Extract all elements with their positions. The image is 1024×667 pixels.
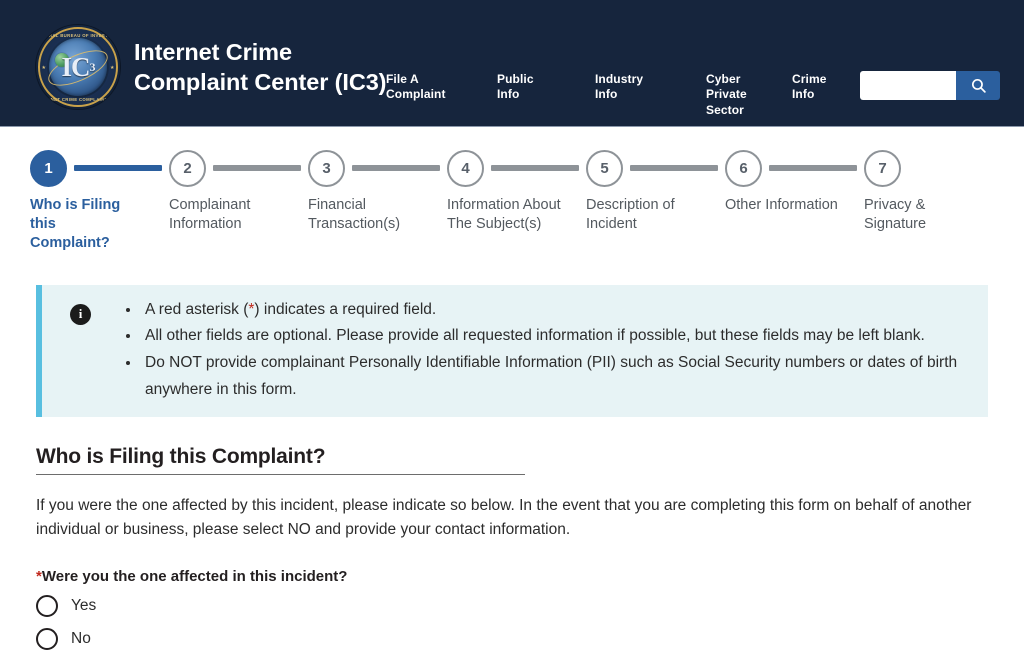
step-6-row: 6 (725, 149, 864, 187)
step-5-description-of-incident[interactable]: 5 Description of Incident (586, 149, 725, 234)
step-3-connector (352, 165, 440, 171)
step-4-connector (491, 165, 579, 171)
radio-circle-yes-icon[interactable] (36, 595, 58, 617)
instructions-list: A red asterisk (*) indicates a required … (123, 297, 978, 404)
step-5-row: 5 (586, 149, 725, 187)
intro-paragraph: If you were the one affected by this inc… (36, 494, 988, 541)
main-navigation: File A Complaint Public Info Industry In… (386, 72, 868, 118)
instruction-item-no-pii: Do NOT provide complainant Personally Id… (141, 350, 978, 403)
step-4-circle[interactable]: 4 (447, 150, 484, 187)
step-6-other-information[interactable]: 6 Other Information (725, 149, 864, 215)
progress-stepper: 1 Who is Filing this Complaint? 2 Compla… (0, 149, 1024, 253)
step-4-information-about-subjects[interactable]: 4 Information About The Subject(s) (447, 149, 586, 234)
site-title-line-1: Internet Crime (134, 37, 386, 67)
step-6-label[interactable]: Other Information (725, 196, 843, 215)
step-1-connector (74, 165, 162, 171)
main-content: Who is Filing this Complaint? If you wer… (0, 445, 1024, 650)
info-icon: i (70, 304, 91, 325)
instruction-1-pre: A red asterisk ( (145, 301, 248, 318)
step-1-who-is-filing[interactable]: 1 Who is Filing this Complaint? (30, 149, 169, 253)
nav-item-crime-info[interactable]: Crime Info (792, 72, 868, 103)
radio-circle-no-icon[interactable] (36, 628, 58, 650)
nav-item-industry-info[interactable]: Industry Info (595, 72, 706, 103)
step-3-label[interactable]: Financial Transaction(s) (308, 196, 426, 234)
step-1-circle[interactable]: 1 (30, 150, 67, 187)
search-button[interactable] (956, 71, 1000, 100)
step-3-row: 3 (308, 149, 447, 187)
step-6-connector (769, 165, 857, 171)
step-5-connector (630, 165, 718, 171)
step-4-row: 4 (447, 149, 586, 187)
step-5-label[interactable]: Description of Incident (586, 196, 704, 234)
instruction-1-post: ) indicates a required field. (254, 301, 436, 318)
step-3-financial-transactions[interactable]: 3 Financial Transaction(s) (308, 149, 447, 234)
radio-label-no[interactable]: No (71, 630, 91, 648)
seal-acronym-superscript: 3 (90, 60, 95, 75)
step-7-label[interactable]: Privacy & Signature (864, 196, 982, 234)
step-7-privacy-and-signature[interactable]: 7 Privacy & Signature (864, 149, 984, 234)
step-2-complainant-information[interactable]: 2 Complainant Information (169, 149, 308, 234)
nav-item-public-info[interactable]: Public Info (497, 72, 595, 103)
step-2-label[interactable]: Complainant Information (169, 196, 287, 234)
radio-option-no[interactable]: No (36, 628, 988, 650)
radio-option-yes[interactable]: Yes (36, 595, 988, 617)
step-5-circle[interactable]: 5 (586, 150, 623, 187)
seal-acronym-text: IC (61, 52, 89, 83)
page-title: Who is Filing this Complaint? (36, 445, 988, 469)
step-1-row: 1 (30, 149, 169, 187)
step-3-circle[interactable]: 3 (308, 150, 345, 187)
instruction-item-required-field: A red asterisk (*) indicates a required … (141, 297, 978, 324)
instruction-item-optional-fields: All other fields are optional. Please pr… (141, 323, 978, 350)
step-2-connector (213, 165, 301, 171)
nav-item-file-a-complaint[interactable]: File A Complaint (386, 72, 497, 103)
ic3-fbi-seal-icon: FEDERAL BUREAU OF INVESTIGATION INTERNET… (36, 25, 120, 109)
step-7-circle[interactable]: 7 (864, 150, 901, 187)
radio-label-yes[interactable]: Yes (71, 597, 96, 615)
step-7-row: 7 (864, 149, 984, 187)
site-title-line-2: Complaint Center (IC3) (134, 67, 386, 97)
nav-item-cyber-private-sector[interactable]: Cyber Private Sector (706, 72, 792, 118)
step-2-circle[interactable]: 2 (169, 150, 206, 187)
title-divider (36, 474, 525, 475)
site-title: Internet Crime Complaint Center (IC3) (134, 37, 386, 97)
brand-logo-block[interactable]: FEDERAL BUREAU OF INVESTIGATION INTERNET… (36, 25, 386, 109)
form-instructions-notice: i A red asterisk (*) indicates a require… (36, 285, 988, 418)
step-6-circle[interactable]: 6 (725, 150, 762, 187)
search-icon (970, 77, 987, 94)
radio-group-affected: Yes No (36, 595, 988, 650)
question-label-affected: *Were you the one affected in this incid… (36, 568, 988, 585)
site-header: FEDERAL BUREAU OF INVESTIGATION INTERNET… (0, 0, 1024, 127)
step-4-label[interactable]: Information About The Subject(s) (447, 196, 565, 234)
step-2-row: 2 (169, 149, 308, 187)
search-input[interactable] (860, 71, 956, 100)
site-search (860, 71, 1000, 100)
step-1-label[interactable]: Who is Filing this Complaint? (30, 196, 130, 253)
question-text: Were you the one affected in this incide… (42, 568, 348, 585)
seal-acronym: IC3 (36, 25, 120, 109)
